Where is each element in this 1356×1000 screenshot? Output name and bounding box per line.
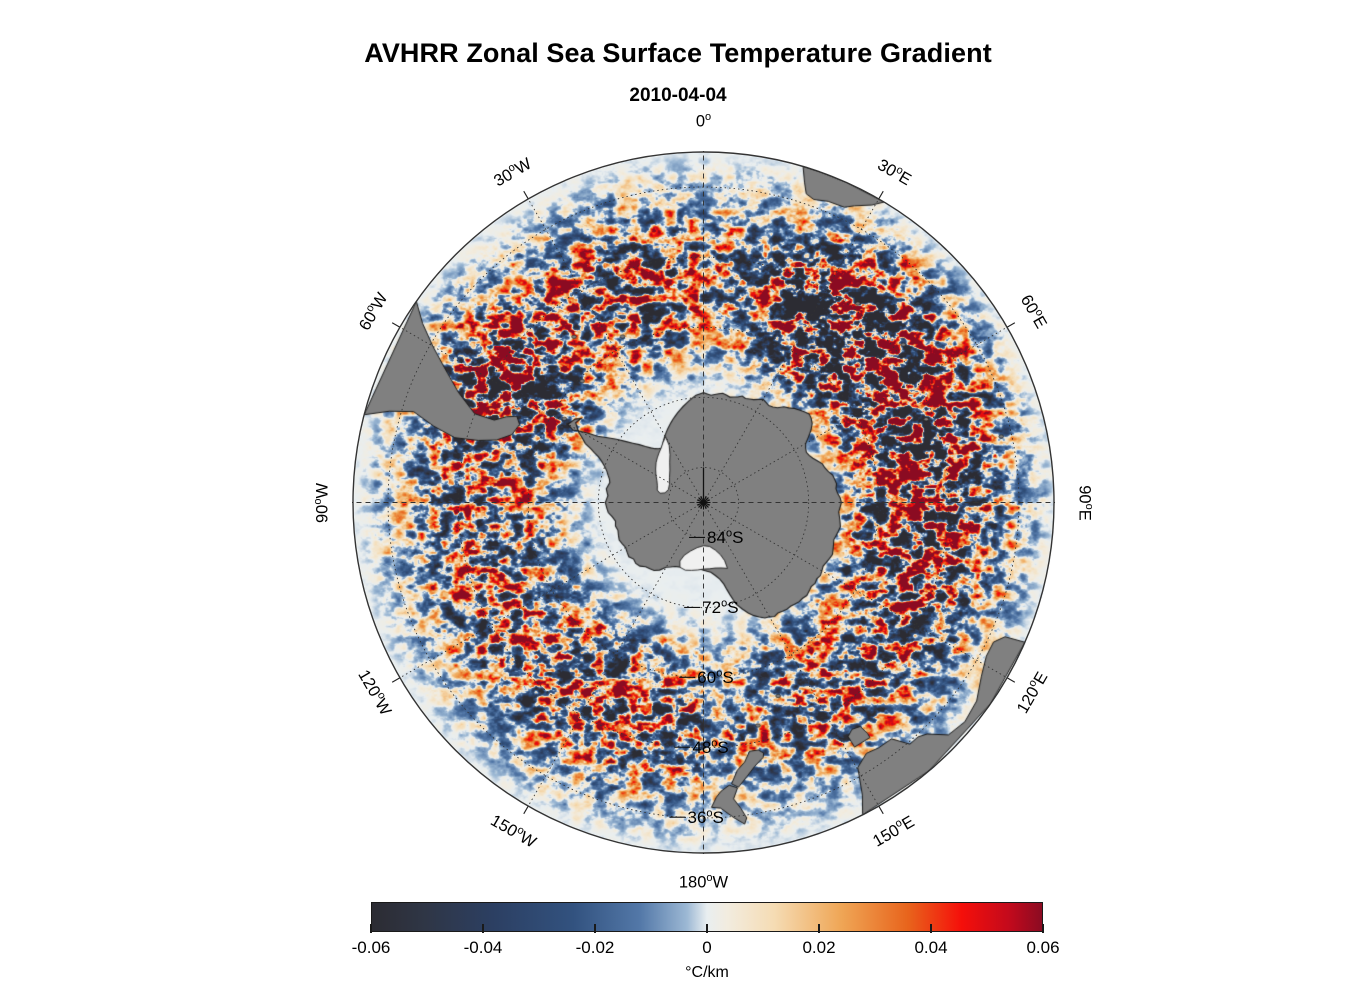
longitude-tick xyxy=(392,323,400,328)
colorbar-tick-label: -0.04 xyxy=(464,938,503,958)
colorbar-unit-label: °C/km xyxy=(371,964,1043,982)
colorbar-tick xyxy=(706,924,707,933)
colorbar-tick-label: 0 xyxy=(702,938,711,958)
colorbar-tick xyxy=(370,924,371,933)
colorbar-tick xyxy=(482,924,483,933)
longitude-tick xyxy=(1007,678,1015,683)
meridian-line xyxy=(400,327,704,502)
latitude-label-48S: 48oS xyxy=(692,738,728,758)
latitude-label-84S: 84oS xyxy=(707,528,743,548)
page-title: AVHRR Zonal Sea Surface Temperature Grad… xyxy=(0,38,1356,69)
colorbar: -0.06-0.04-0.0200.020.040.06 °C/km xyxy=(371,902,1043,932)
meridian-line xyxy=(400,503,704,678)
colorbar-tick-label: 0.06 xyxy=(1026,938,1059,958)
longitude-tick xyxy=(1007,323,1015,328)
colorbar-tick-label: -0.06 xyxy=(352,938,391,958)
longitude-tick xyxy=(879,191,884,199)
longitude-label-0: 0o xyxy=(696,113,711,132)
figure-subtitle: 2010-04-04 xyxy=(0,85,1356,107)
colorbar-tick xyxy=(818,924,819,933)
figure-canvas: AVHRR Zonal Sea Surface Temperature Grad… xyxy=(0,0,1356,1000)
longitude-tick xyxy=(524,806,529,814)
colorbar-tick-label: 0.02 xyxy=(802,938,835,958)
latitude-label-60S: 60oS xyxy=(697,668,733,688)
longitude-label-90W: 90oW xyxy=(314,482,333,522)
colorbar-tick-label: -0.02 xyxy=(576,938,615,958)
longitude-tick xyxy=(524,191,529,199)
longitude-label-180W: 180oW xyxy=(679,874,728,893)
longitude-label-90E: 90oE xyxy=(1075,485,1094,521)
colorbar-tick xyxy=(930,924,931,933)
meridian-line xyxy=(704,199,879,503)
longitude-tick xyxy=(879,806,884,814)
meridian-line xyxy=(528,503,703,807)
latitude-label-36S: 36oS xyxy=(687,808,723,828)
colorbar-tick-label: 0.04 xyxy=(914,938,947,958)
colorbar-tick xyxy=(594,924,595,933)
longitude-tick xyxy=(392,678,400,683)
colorbar-tick xyxy=(1042,924,1043,933)
meridian-line xyxy=(704,503,1008,678)
latitude-label-72S: 72oS xyxy=(702,598,738,618)
